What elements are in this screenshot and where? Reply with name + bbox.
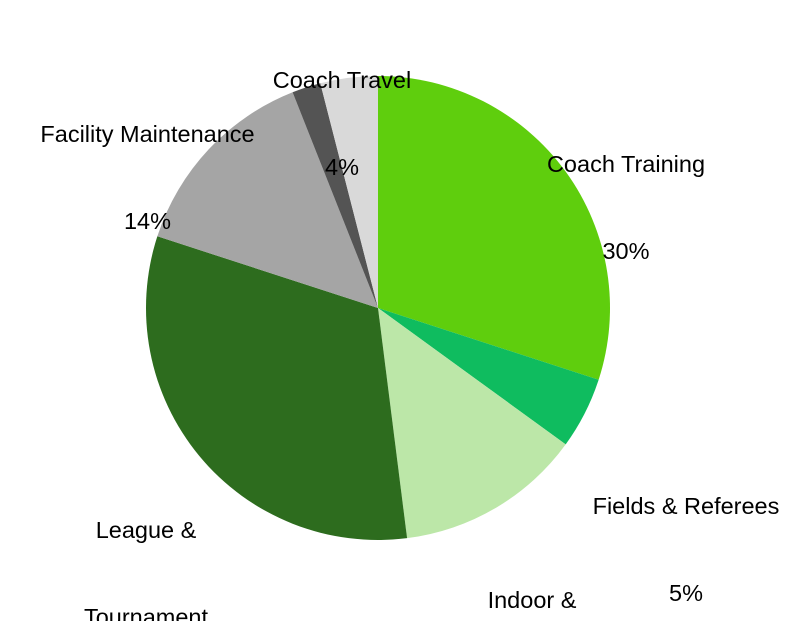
- pie-label-fields-referees-name: Fields & Referees: [578, 492, 794, 521]
- pie-label-league-tournament-fees: League & Tournament Fees 32%: [48, 458, 244, 621]
- pie-label-league-tournament-fees-name-2: Tournament: [48, 603, 244, 621]
- pie-label-coach-training-name: Coach Training: [513, 150, 739, 179]
- pie-label-league-tournament-fees-name-1: League &: [48, 516, 244, 545]
- pie-label-indoor-winter-fields: Indoor & Winter Fields 13%: [443, 528, 621, 621]
- pie-label-facility-maintenance-name: Facility Maintenance: [15, 120, 280, 149]
- pie-label-facility-maintenance: Facility Maintenance 14%: [15, 62, 280, 294]
- pie-label-coach-training-percent: 30%: [513, 237, 739, 266]
- pie-label-coach-training: Coach Training 30%: [513, 92, 739, 324]
- pie-label-indoor-winter-fields-name-1: Indoor &: [443, 586, 621, 615]
- pie-chart-figure: Coach Travel 4% Facility Maintenance 14%…: [0, 0, 808, 621]
- pie-label-facility-maintenance-percent: 14%: [15, 207, 280, 236]
